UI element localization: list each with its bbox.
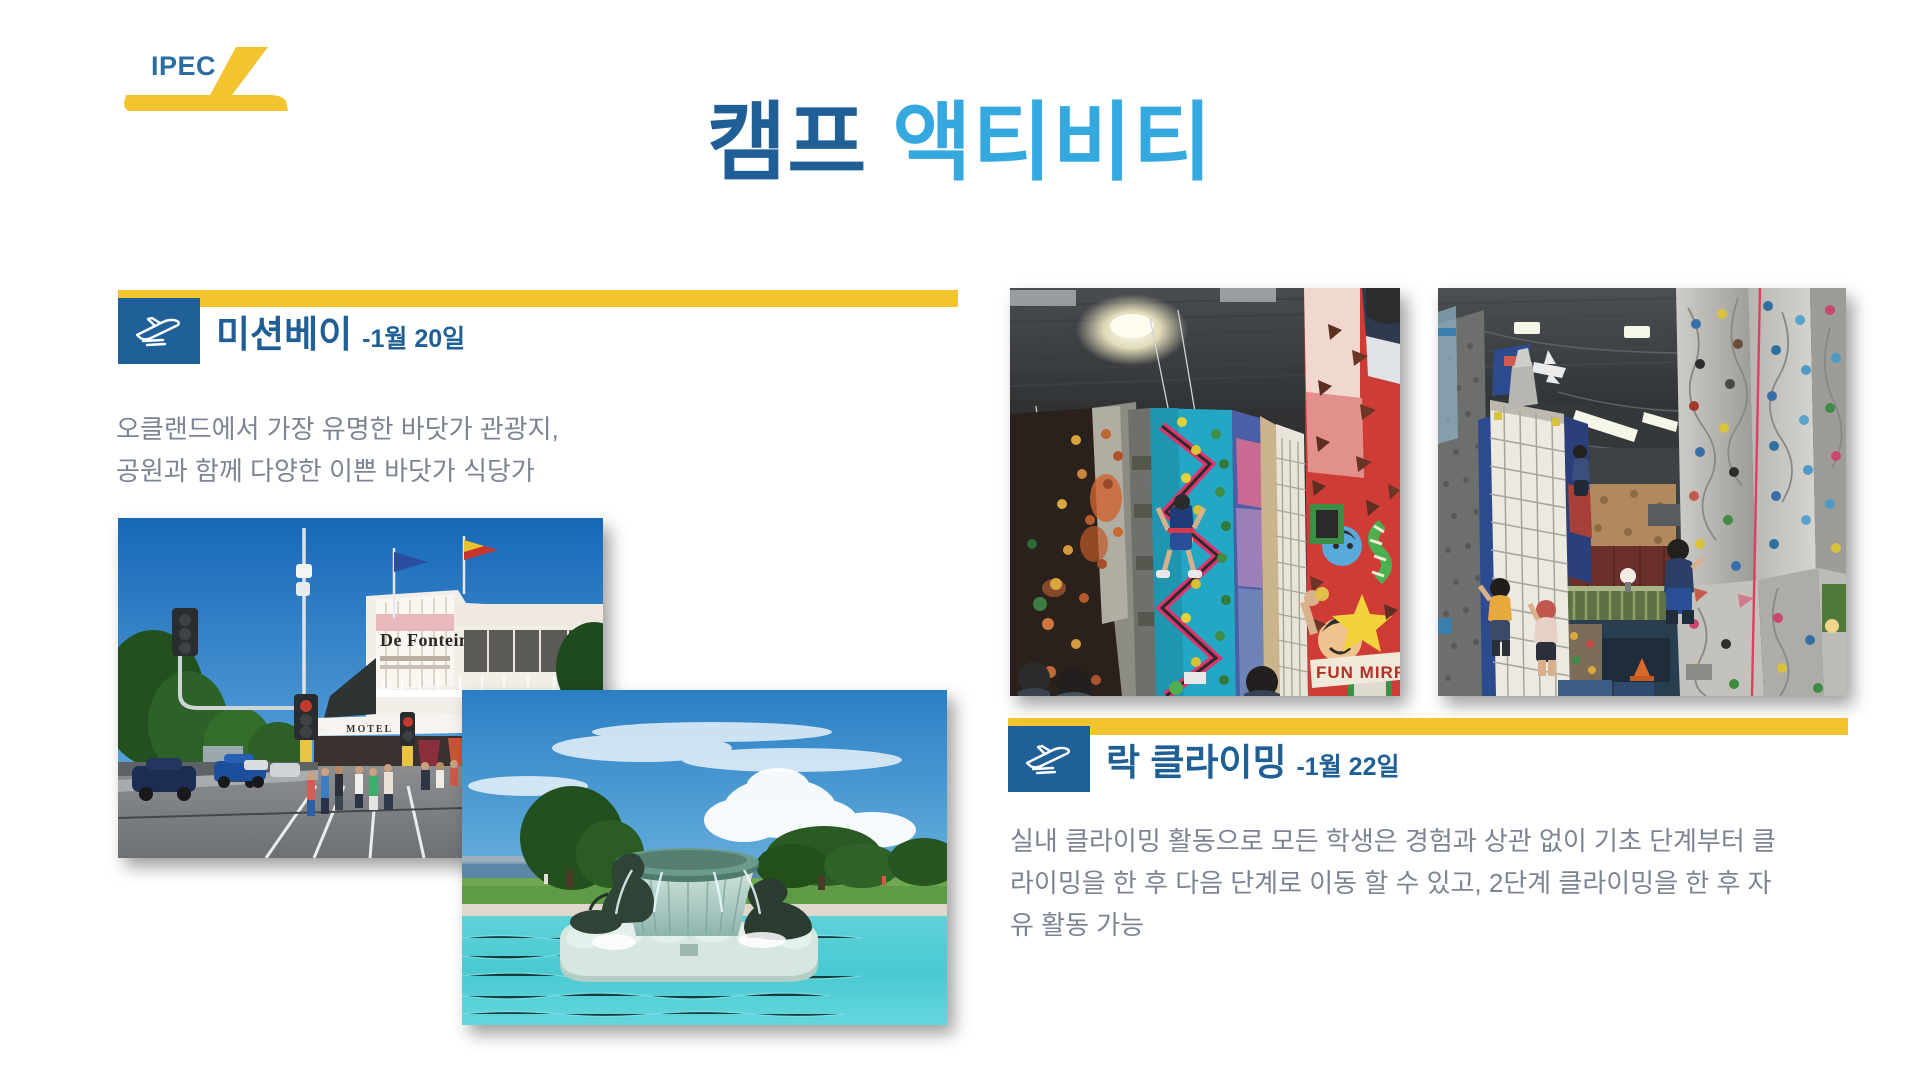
section-header-rock-climbing: 락 클라이밍-1월 22일 <box>1008 718 1848 808</box>
section-heading: 미션베이-1월 20일 <box>216 304 465 358</box>
section-header-mission-bay: 미션베이-1월 20일 <box>118 290 958 380</box>
section-date: -1월 22일 <box>1296 753 1399 781</box>
page-title-part2: 액티비티 <box>892 95 1212 191</box>
page-title: 캠프 액티비티 <box>0 98 1920 188</box>
rock-climbing-grey-walls-photo <box>1438 288 1846 696</box>
svg-text:MOTEL: MOTEL <box>346 724 393 735</box>
page-title-part1: 캠프 <box>707 95 867 191</box>
section-body-rock-climbing: 실내 클라이밍 활동으로 모든 학생은 경험과 상관 없이 기초 단계부터 클 … <box>1010 820 1890 946</box>
slide-canvas: IPEC 캠프 액티비티 미션베이-1월 20일 오클랜드에서 가장 유명한 바… <box>0 0 1920 1080</box>
section-name: 미션베이 <box>216 314 352 355</box>
mission-bay-fountain-photo <box>462 690 947 1025</box>
body-line: 실내 클라이밍 활동으로 모든 학생은 경험과 상관 없이 기초 단계부터 클 <box>1010 820 1890 862</box>
section-heading: 락 클라이밍-1월 22일 <box>1106 732 1399 786</box>
section-badge <box>1008 726 1090 792</box>
body-line: 오클랜드에서 가장 유명한 바닷가 관광지, <box>116 408 736 450</box>
logo-text: IPEC <box>151 51 216 82</box>
section-name: 락 클라이밍 <box>1106 742 1286 783</box>
body-line: 라이밍을 한 후 다음 단계로 이동 할 수 있고, 2단계 클라이밍을 한 후… <box>1010 862 1890 904</box>
section-date: -1월 20일 <box>362 325 465 353</box>
section-badge <box>118 298 200 364</box>
body-line: 공원과 함께 다양한 이쁜 바닷가 식당가 <box>116 450 736 492</box>
svg-text:FUN MIRROR: FUN MIRROR <box>1316 663 1400 682</box>
rock-climbing-colourful-walls-photo: FUN MIRROR <box>1010 288 1400 696</box>
body-line: 유 활동 가능 <box>1010 904 1890 946</box>
svg-text:De Fontein: De Fontein <box>380 630 470 650</box>
airplane-takeoff-icon <box>1023 742 1075 776</box>
section-body-mission-bay: 오클랜드에서 가장 유명한 바닷가 관광지, 공원과 함께 다양한 이쁜 바닷가… <box>116 408 736 492</box>
airplane-takeoff-icon <box>133 314 185 348</box>
